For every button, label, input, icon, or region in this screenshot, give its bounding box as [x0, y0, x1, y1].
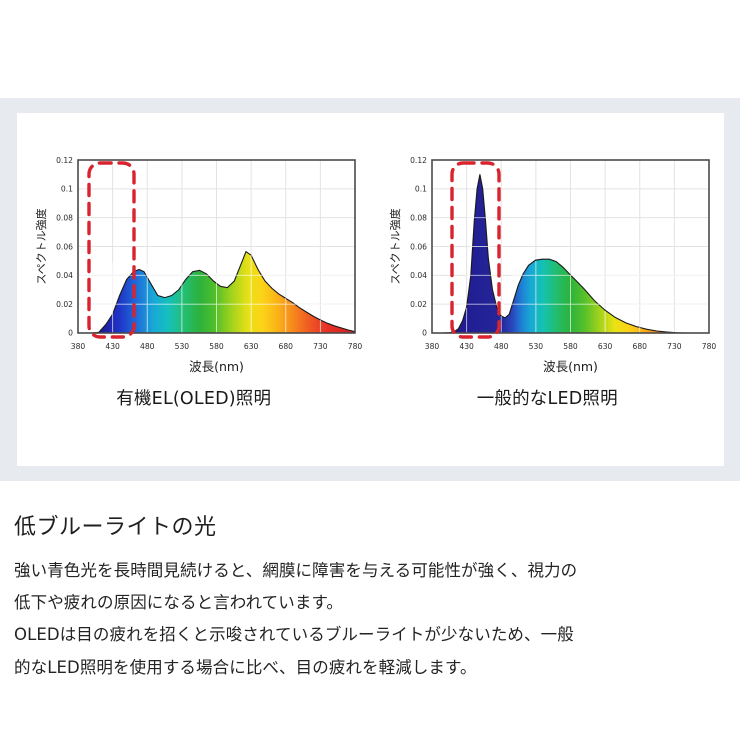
x-axis-tick-labels: 380 430 480 530 580 630 680 730 780	[424, 342, 716, 351]
y-tick: 0.12	[410, 156, 427, 165]
x-tick: 680	[632, 342, 647, 351]
x-tick: 580	[209, 342, 224, 351]
oled-chart-svg: 0.12 0.1 0.08 0.06 0.04 0.02 0 380 430	[17, 113, 371, 385]
x-axis-tick-labels: 380 430 480 530 580 630 680 730 780	[71, 342, 363, 351]
x-axis-title: 波長(nm)	[189, 359, 244, 374]
y-tick: 0.06	[410, 242, 427, 251]
x-tick: 430	[105, 342, 120, 351]
x-tick: 480	[140, 342, 155, 351]
y-axis-tick-labels: 0.12 0.1 0.08 0.06 0.04 0.02 0	[410, 156, 427, 338]
x-tick: 430	[459, 342, 474, 351]
x-tick: 380	[424, 342, 439, 351]
y-tick: 0.08	[56, 213, 73, 222]
y-tick: 0.04	[56, 271, 73, 280]
x-tick: 730	[667, 342, 682, 351]
y-tick: 0.08	[410, 213, 427, 222]
chart-panel-frame: 0.12 0.1 0.08 0.06 0.04 0.02 0 380 430	[0, 98, 740, 481]
oled-spectrum-chart: 0.12 0.1 0.08 0.06 0.04 0.02 0 380 430	[17, 113, 371, 385]
description-section: 低ブルーライトの光 強い青色光を長時間見続けると、網膜に障害を与える可能性が強く…	[0, 481, 740, 684]
x-tick: 630	[597, 342, 612, 351]
x-tick: 530	[528, 342, 543, 351]
led-chart-svg: 0.12 0.1 0.08 0.06 0.04 0.02 0 380 430 4…	[371, 113, 725, 385]
description-paragraph: 強い青色光を長時間見続けると、網膜に障害を与える可能性が強く、視力の 低下や疲れ…	[14, 555, 726, 684]
y-tick: 0.02	[410, 300, 427, 309]
charts-row: 0.12 0.1 0.08 0.06 0.04 0.02 0 380 430	[17, 113, 724, 385]
caption-oled: 有機EL(OLED)照明	[17, 385, 371, 410]
top-whitespace	[0, 0, 740, 98]
led-spectrum-chart: 0.12 0.1 0.08 0.06 0.04 0.02 0 380 430 4…	[371, 113, 725, 385]
chart-cell-oled: 0.12 0.1 0.08 0.06 0.04 0.02 0 380 430	[17, 113, 371, 385]
paragraph-line: 的なLED照明を使用する場合に比べ、目の疲れを軽減します。	[14, 652, 726, 684]
y-axis-tick-labels: 0.12 0.1 0.08 0.06 0.04 0.02 0	[56, 156, 73, 338]
chart-captions-row: 有機EL(OLED)照明 一般的なLED照明	[17, 385, 724, 466]
x-tick: 680	[279, 342, 294, 351]
x-tick: 580	[563, 342, 578, 351]
x-tick: 780	[348, 342, 363, 351]
x-tick: 530	[175, 342, 190, 351]
y-tick: 0	[422, 329, 427, 338]
x-tick: 630	[244, 342, 259, 351]
paragraph-line: 強い青色光を長時間見続けると、網膜に障害を与える可能性が強く、視力の	[14, 555, 726, 587]
y-tick: 0	[68, 329, 73, 338]
x-tick: 780	[701, 342, 716, 351]
y-tick: 0.06	[56, 242, 73, 251]
chart-panel: 0.12 0.1 0.08 0.06 0.04 0.02 0 380 430	[17, 113, 724, 466]
y-tick: 0.04	[410, 271, 427, 280]
caption-led: 一般的なLED照明	[371, 385, 725, 410]
x-tick: 480	[494, 342, 509, 351]
x-axis-title: 波長(nm)	[543, 359, 598, 374]
y-tick: 0.1	[61, 185, 73, 194]
y-axis-title: スペクトル強度	[34, 208, 48, 284]
chart-cell-led: 0.12 0.1 0.08 0.06 0.04 0.02 0 380 430 4…	[371, 113, 725, 385]
paragraph-line: OLEDは目の疲れを招くと示唆されているブルーライトが少ないため、一般	[14, 619, 726, 651]
y-tick: 0.1	[414, 185, 426, 194]
paragraph-line: 低下や疲れの原因になると言われています。	[14, 587, 726, 619]
y-axis-title: スペクトル強度	[388, 208, 402, 284]
page-title: 低ブルーライトの光	[14, 509, 726, 541]
y-tick: 0.12	[56, 156, 73, 165]
x-tick: 380	[71, 342, 86, 351]
y-tick: 0.02	[56, 300, 73, 309]
x-tick: 730	[313, 342, 328, 351]
